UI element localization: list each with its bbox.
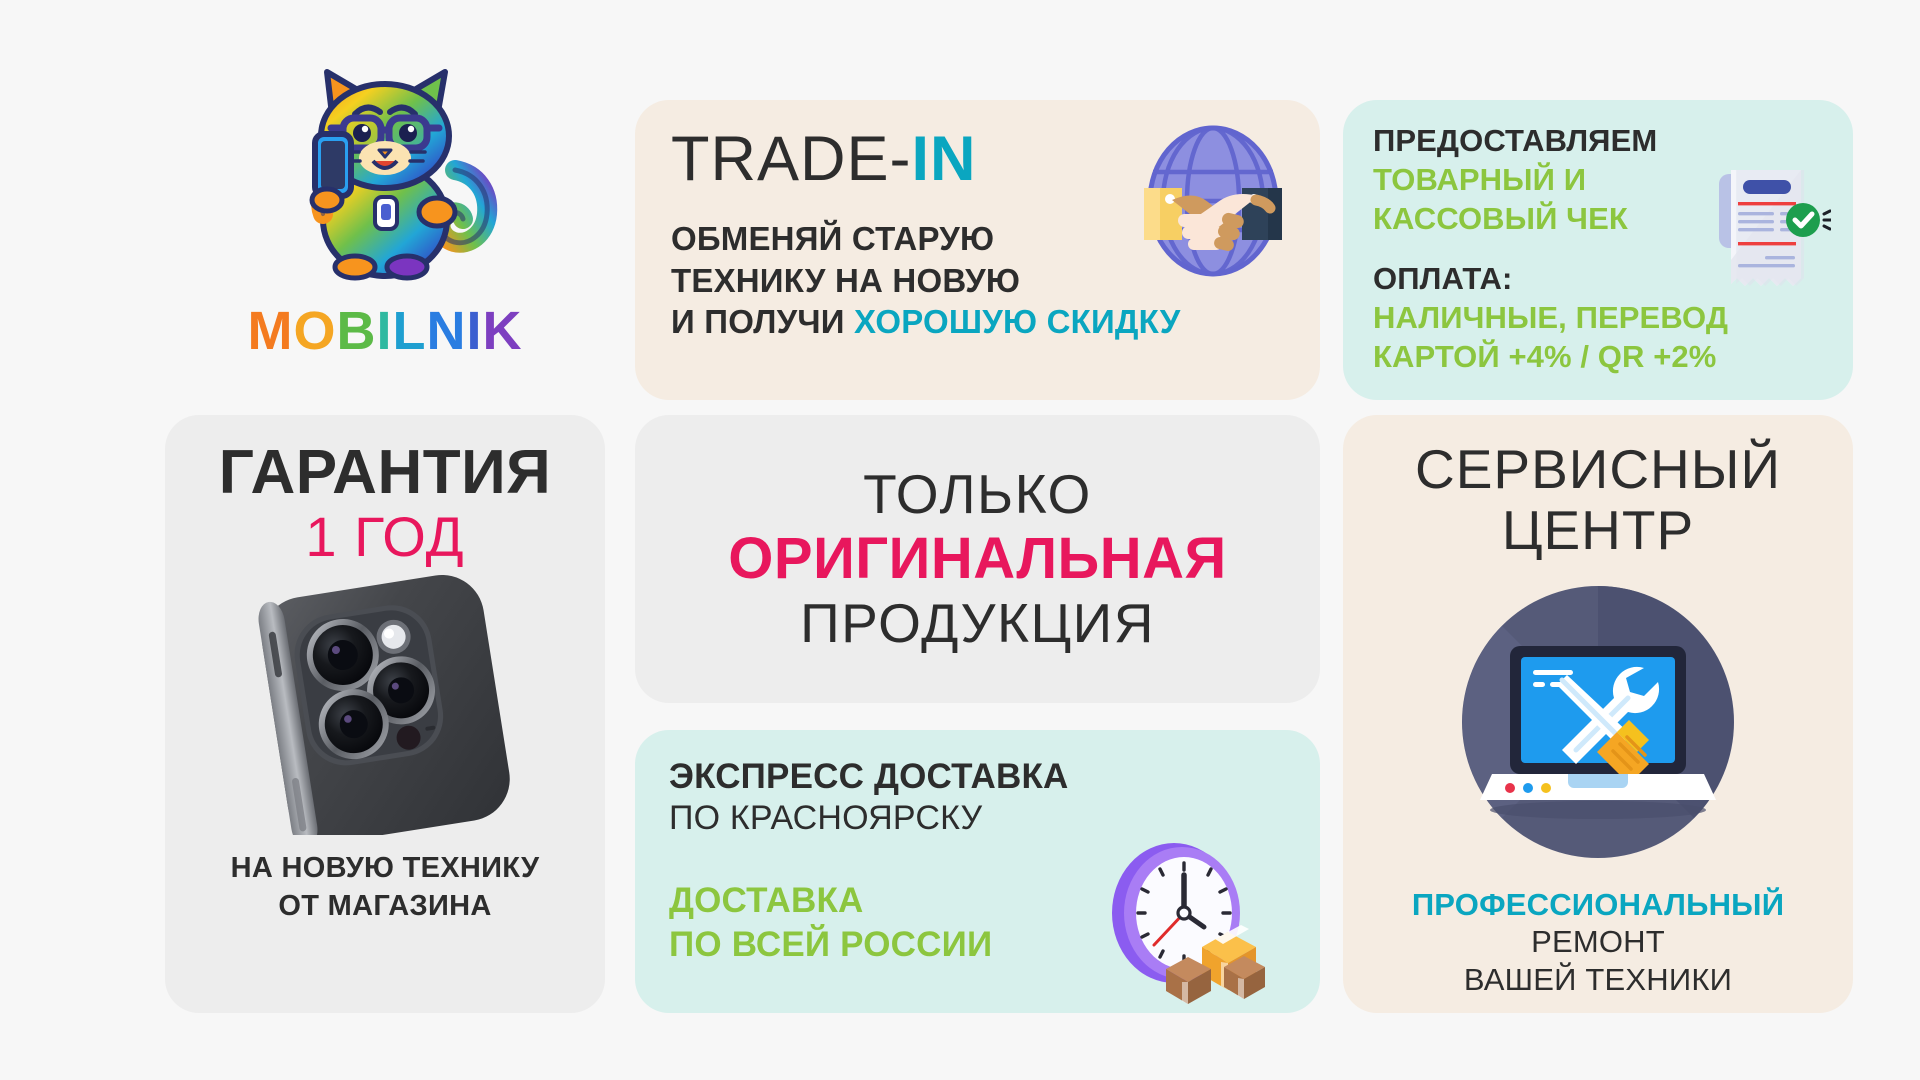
warranty-footer: НА НОВУЮ ТЕХНИКУ ОТ МАГАЗИНА (231, 849, 540, 926)
receipt-check-icon (1705, 164, 1831, 300)
clock-and-parcels-icon (1098, 827, 1288, 1007)
delivery-card: ЭКСПРЕСС ДОСТАВКА ПО КРАСНОЯРСКУ ДОСТАВК… (635, 730, 1320, 1013)
receipt-payment-card: ПРЕДОСТАВЛЯЕМ ТОВАРНЫЙ И КАССОВЫЙ ЧЕК ОП… (1343, 100, 1853, 400)
logo-letter-k: K (483, 304, 523, 358)
tradein-title-accent: IN (912, 124, 977, 194)
tradein-body-line3-prefix: И ПОЛУЧИ (671, 303, 854, 340)
warranty-term: 1 ГОД (305, 508, 464, 567)
service-title: СЕРВИСНЫЙ ЦЕНТР (1415, 439, 1781, 560)
logo-wordmark: MOBILNIK (247, 304, 522, 358)
brand-block: MOBILNIK (165, 60, 605, 390)
service-title-line2: ЦЕНТР (1415, 500, 1781, 561)
tradein-body-line3-accent: ХОРОШУЮ СКИДКУ (854, 303, 1180, 340)
logo-letter-i: I (467, 304, 483, 358)
service-footer-line3: ВАШЕЙ ТЕХНИКИ (1412, 961, 1784, 999)
original-products-card: ТОЛЬКО ОРИГИНАЛЬНАЯ ПРОДУКЦИЯ (635, 415, 1320, 703)
promo-banner: MOBILNIK ГАРАНТИЯ 1 ГОД (0, 0, 1920, 1080)
logo-letter-l: L (393, 304, 427, 358)
service-footer-line1: ПРОФЕССИОНАЛЬНЫЙ (1412, 886, 1784, 923)
tradein-card: TRADE-IN ОБМЕНЯЙ СТАРУЮ ТЕХНИКУ НА НОВУЮ… (635, 100, 1320, 400)
delivery-title: ЭКСПРЕСС ДОСТАВКА (669, 756, 1320, 798)
original-line2: ОРИГИНАЛЬНАЯ (728, 526, 1226, 592)
iphone-pro-rear-camera-photo (251, 573, 519, 835)
logo-letter-o: O (293, 304, 336, 358)
logo-letter-m: M (247, 304, 293, 358)
receipt-payment-line1: НАЛИЧНЫЕ, ПЕРЕВОД (1373, 299, 1853, 338)
receipt-payment-line2: КАРТОЙ +4% / QR +2% (1373, 338, 1853, 377)
logo-letter-i: I (376, 304, 392, 358)
service-footer-line2: РЕМОНТ (1412, 923, 1784, 961)
receipt-line1: ПРЕДОСТАВЛЯЕМ (1373, 122, 1853, 161)
original-line1: ТОЛЬКО (863, 463, 1092, 526)
warranty-title: ГАРАНТИЯ (219, 441, 551, 504)
service-center-card: СЕРВИСНЫЙ ЦЕНТР (1343, 415, 1853, 1013)
handshake-globe-icon (1134, 122, 1292, 280)
warranty-footer-line2: ОТ МАГАЗИНА (231, 887, 540, 925)
logo-letter-b: B (336, 304, 376, 358)
original-line3: ПРОДУКЦИЯ (800, 592, 1155, 655)
service-title-line1: СЕРВИСНЫЙ (1415, 439, 1781, 500)
laptop-repair-tools-icon (1448, 572, 1748, 872)
warranty-card: ГАРАНТИЯ 1 ГОД (165, 415, 605, 1013)
tradein-title-main: TRADE- (671, 124, 912, 194)
warranty-footer-line1: НА НОВУЮ ТЕХНИКУ (231, 849, 540, 887)
logo-letter-n: N (427, 304, 467, 358)
service-footer: ПРОФЕССИОНАЛЬНЫЙ РЕМОНТ ВАШЕЙ ТЕХНИКИ (1412, 886, 1784, 999)
rainbow-cat-with-phone-icon (269, 60, 501, 298)
tradein-body-line3: И ПОЛУЧИ ХОРОШУЮ СКИДКУ (671, 301, 1286, 343)
